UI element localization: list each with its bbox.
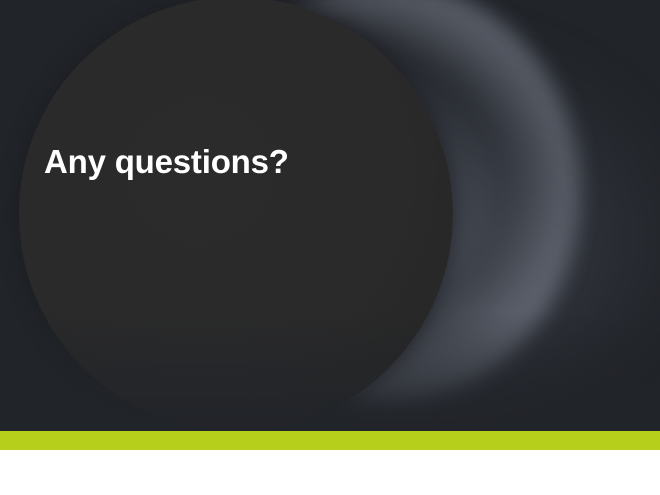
floor-shading bbox=[0, 311, 660, 431]
presentation-slide: Any questions? challenger bbox=[0, 0, 660, 495]
slide-footer: challenger bbox=[0, 450, 660, 495]
page-title: Any questions? bbox=[44, 143, 289, 181]
accent-bar bbox=[0, 431, 660, 450]
slide-stage: Any questions? bbox=[0, 0, 660, 431]
